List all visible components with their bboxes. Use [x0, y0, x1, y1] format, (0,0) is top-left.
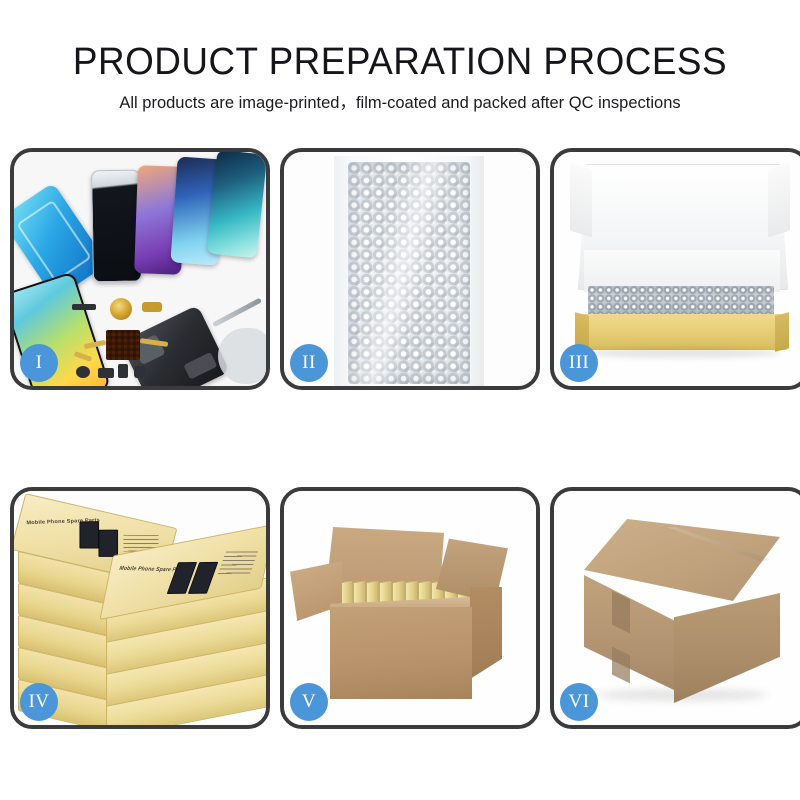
product-preparation-infographic: PRODUCT PREPARATION PROCESS All products… [0, 0, 800, 800]
chip-graphic [118, 364, 128, 378]
screen-photo-graphic [79, 521, 99, 548]
step-badge-3: III [560, 344, 598, 382]
logic-board-graphic [106, 330, 140, 360]
carton-right-face [674, 593, 780, 703]
process-step-6[interactable]: VI [550, 487, 800, 729]
page-subtitle: All products are image-printed，film-coat… [0, 84, 800, 113]
flex-connector-graphic [142, 302, 162, 312]
step-badge-5: V [290, 683, 328, 721]
carton-left-face [584, 575, 676, 691]
tweezers-graphic [212, 298, 262, 328]
screen-photo-graphic [98, 530, 118, 557]
process-step-2[interactable]: II [280, 148, 540, 390]
process-step-3[interactable]: III [550, 148, 800, 390]
process-step-grid: I II III [10, 148, 790, 729]
step-badge-2: II [290, 344, 328, 382]
speaker-coil-graphic [110, 298, 132, 320]
carton-side-face [470, 587, 502, 679]
mailer-left-flap-graphic [570, 162, 592, 237]
teal-phone-graphic [207, 152, 266, 258]
box-stack-graphic: Mobile Phone Spare Parts Mobile Phone Sp… [20, 505, 264, 721]
step-badge-4: IV [20, 683, 58, 721]
chip-graphic [72, 304, 96, 310]
drop-shadow [584, 348, 780, 358]
camera-module-graphic [134, 366, 146, 378]
header: PRODUCT PREPARATION PROCESS All products… [0, 0, 800, 113]
bubble-wrapped-item-graphic [588, 286, 774, 316]
spec-text-lines [217, 551, 258, 575]
hand-graphic [218, 328, 266, 384]
plastic-sheen-graphic [348, 162, 470, 384]
process-step-4[interactable]: Mobile Phone Spare Parts Mobile Phone Sp… [10, 487, 270, 729]
earpiece-graphic [76, 366, 90, 378]
carton-front-face [330, 607, 472, 699]
step-badge-1: I [20, 344, 58, 382]
page-title: PRODUCT PREPARATION PROCESS [12, 0, 788, 84]
mailer-right-flap-graphic [768, 162, 790, 237]
open-carton-graphic [312, 521, 512, 707]
process-step-1[interactable]: I [10, 148, 270, 390]
process-step-5[interactable]: V [280, 487, 540, 729]
step-badge-6: VI [560, 683, 598, 721]
sealed-carton-graphic [574, 519, 788, 705]
mailer-base-graphic [576, 314, 788, 350]
chip-graphic [98, 368, 114, 378]
